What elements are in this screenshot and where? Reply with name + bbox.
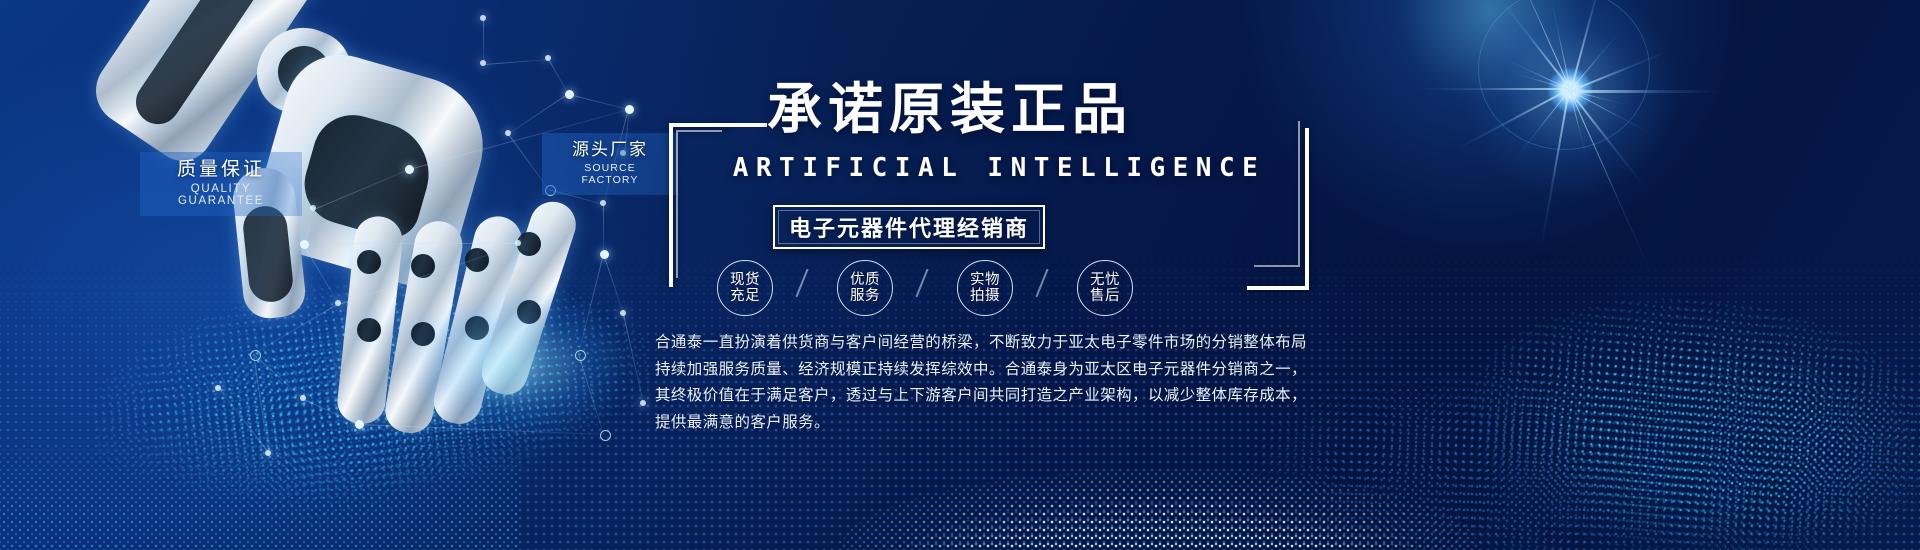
fingertip-glow <box>400 290 630 440</box>
robot-finger-knuckle <box>411 254 435 278</box>
dot-wave-band <box>900 500 1420 550</box>
subtitle-box: 电子元器件代理经销商 <box>773 205 1045 249</box>
feature-badge[interactable]: 实物拍摄 <box>957 260 1013 316</box>
light-ray <box>1502 57 1570 90</box>
bracket-top-left-inner <box>676 130 722 278</box>
light-ray <box>1569 90 1651 273</box>
tag-quality-guarantee: 质量保证 QUALITY GUARANTEE <box>140 152 302 216</box>
hero-banner: 质量保证 QUALITY GUARANTEE 源头厂家 SOURCE FACTO… <box>0 0 1920 550</box>
badge-separator-icon <box>795 269 808 298</box>
feature-badge[interactable]: 无忧售后 <box>1077 260 1133 316</box>
light-ray <box>1420 88 1570 90</box>
robot-finger-knuckle <box>465 248 489 272</box>
tag-quality-guarantee-en: QUALITY GUARANTEE <box>156 183 286 207</box>
paragraph-line: 提供最满意的客户服务。 <box>655 410 1315 437</box>
light-ray <box>1570 51 1668 92</box>
feature-badge-line2: 售后 <box>1090 288 1120 304</box>
description-paragraph: 合通泰一直扮演着供货商与客户间经营的桥梁，不断致力于亚太电子零件市场的分销整体布… <box>655 330 1315 437</box>
dot-wave-band <box>1458 276 1920 550</box>
light-ray <box>1550 0 1571 90</box>
light-ray <box>1570 0 1608 91</box>
light-ray <box>1569 90 1651 134</box>
page-title: 承诺原装正品 <box>767 82 1267 137</box>
robot-finger-knuckle <box>357 250 381 274</box>
light-ray <box>1570 90 1720 93</box>
light-ray <box>1493 0 1571 90</box>
feature-badge-line2: 服务 <box>850 288 880 304</box>
light-ray <box>1570 90 1628 105</box>
light-ray <box>1454 88 1570 151</box>
feature-badge[interactable]: 优质服务 <box>837 260 893 316</box>
feature-badge-line2: 充足 <box>730 288 760 304</box>
tag-source-factory-en: SOURCE FACTORY <box>558 162 662 186</box>
light-ray <box>1569 90 1587 158</box>
badge-separator-icon <box>915 269 928 298</box>
tag-quality-guarantee-cn: 质量保证 <box>156 159 286 181</box>
robot-finger-knuckle <box>357 318 381 342</box>
paragraph-line: 合通泰一直扮演着供货商与客户间经营的桥梁，不断致力于亚太电子零件市场的分销整体布… <box>655 330 1315 357</box>
light-ray <box>1499 0 1571 90</box>
feature-badge-line1: 现货 <box>730 272 760 288</box>
feature-badge-line2: 拍摄 <box>970 288 1000 304</box>
badge-separator-icon <box>1035 269 1048 298</box>
robot-hand-illustration <box>110 0 670 490</box>
headline-block: 承诺原装正品 ARTIFICIAL INTELLIGENCE 电子元器件代理经销… <box>655 60 1375 480</box>
light-ray <box>1570 29 1622 91</box>
light-ray <box>1510 72 1570 90</box>
page-subtitle-en: ARTIFICIAL INTELLIGENCE <box>699 155 1299 181</box>
robot-finger-knuckle <box>517 232 541 256</box>
light-ray <box>1569 90 1644 186</box>
feature-badge[interactable]: 现货充足 <box>717 260 773 316</box>
feature-badge-line1: 无忧 <box>1090 272 1120 288</box>
bracket-top-dash <box>715 123 767 127</box>
dot-wave-band <box>1552 335 1920 550</box>
subtitle-box-inner-border <box>778 210 1040 244</box>
feature-badge-line1: 实物 <box>970 272 1000 288</box>
bracket-bottom-right-inner <box>1254 121 1300 267</box>
dot-wave-band <box>840 470 1480 550</box>
light-ray <box>1540 90 1570 248</box>
paragraph-line: 其终极价值在于满足客户，透过与上下游客户间共同打造之产业架构，以减少整体库存成本… <box>655 383 1315 410</box>
paragraph-line: 持续加强服务质量、经济规模正持续发挥综效中。合通泰身为亚太区电子元器件分销商之一… <box>655 357 1315 384</box>
tag-source-factory-cn: 源头厂家 <box>558 140 662 160</box>
feature-badge-line1: 优质 <box>850 272 880 288</box>
light-burst-icon <box>1420 0 1720 240</box>
feature-badge-list: 现货充足优质服务实物拍摄无忧售后 <box>717 256 1137 322</box>
light-ray <box>1517 89 1570 157</box>
